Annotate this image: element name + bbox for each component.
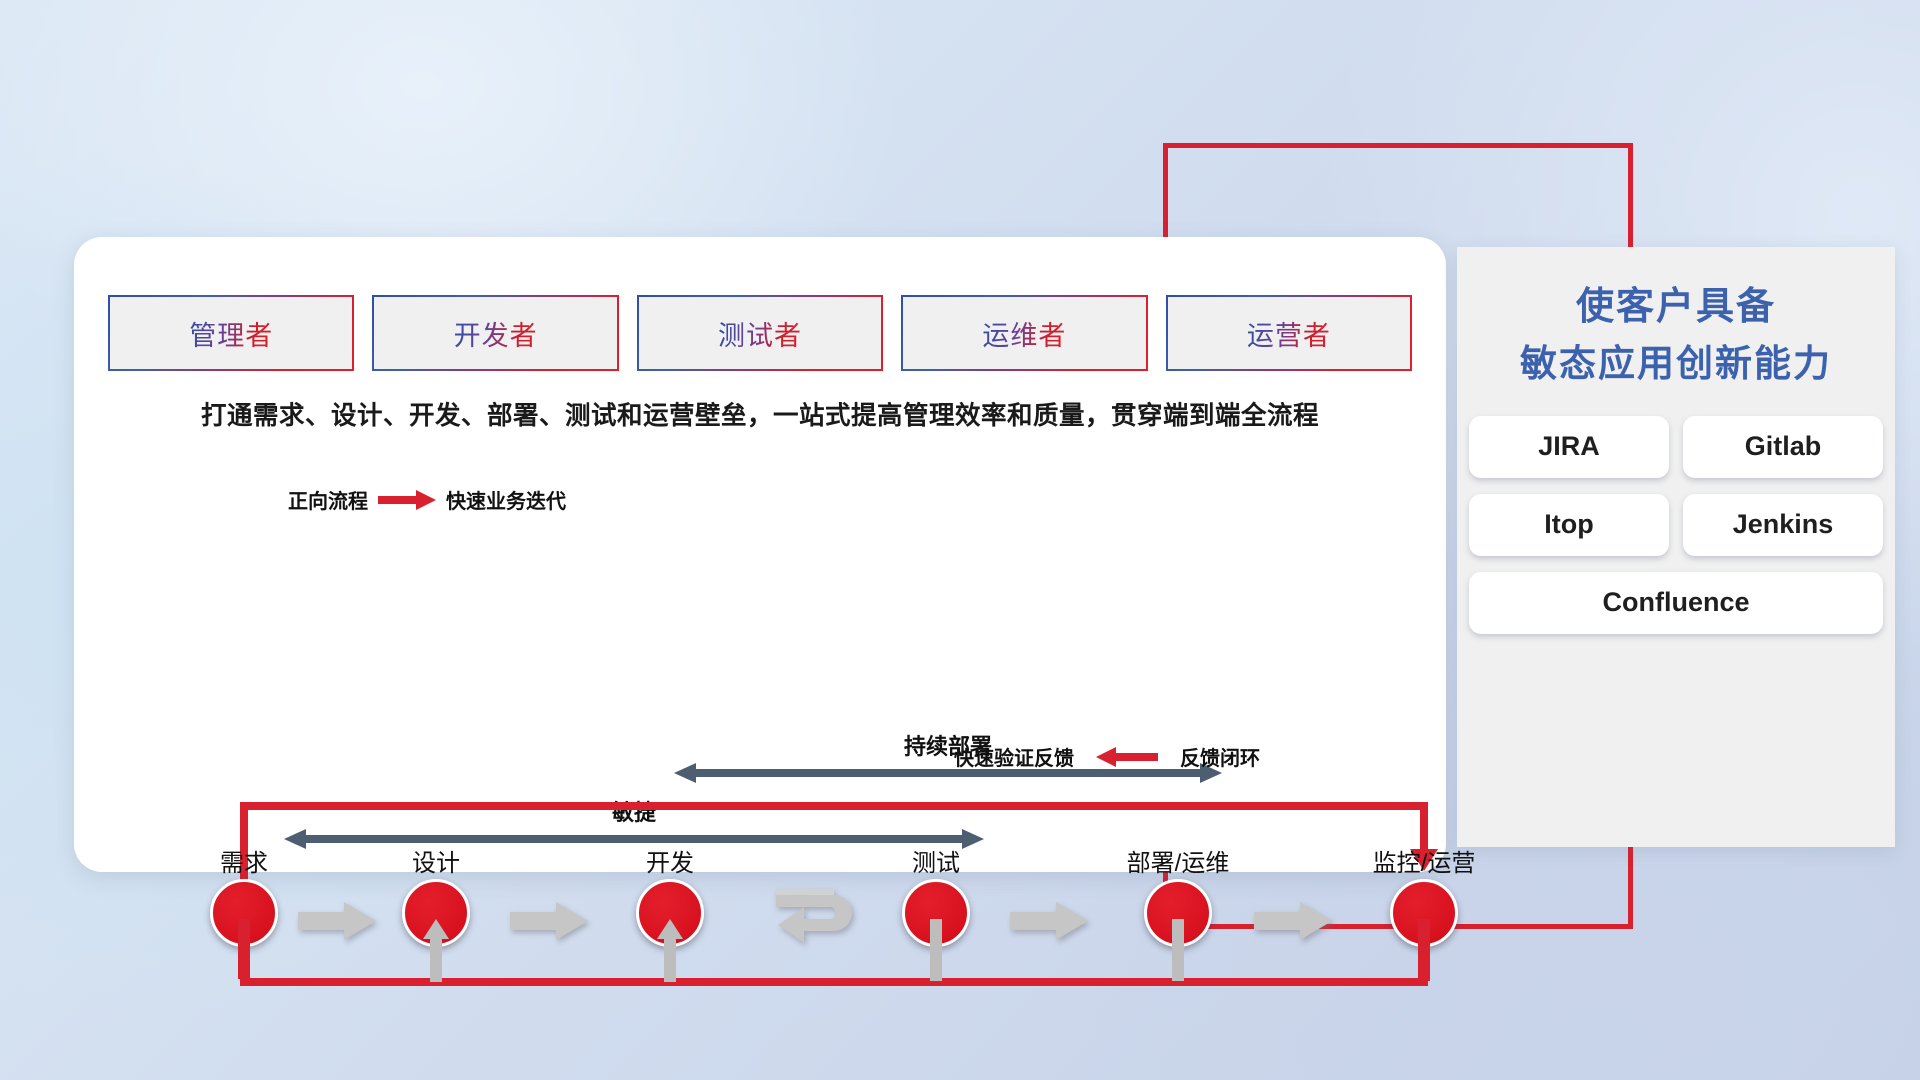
arrow-head (344, 902, 376, 940)
capability-panel: 使客户具备 敏态应用创新能力 JIRA Gitlab Itop Jenkins … (1457, 247, 1895, 847)
stem-deploy-ops (1172, 919, 1184, 981)
arrow-shaft (1254, 912, 1302, 930)
stage-label: 部署/运维 (1118, 851, 1238, 877)
tool-chip-gitlab[interactable]: Gitlab (1683, 416, 1883, 478)
arrow-shaft (1010, 912, 1058, 930)
loop-rail-bottom (240, 978, 1428, 986)
flow-arrow-4-icon (1254, 902, 1332, 940)
stage-label: 监控/运营 (1364, 851, 1484, 877)
flow-arrow-3-icon (1010, 902, 1088, 940)
arrow-shaft (298, 912, 346, 930)
stem-design (430, 937, 442, 982)
arrow-head (1300, 902, 1332, 940)
tool-chip-jenkins[interactable]: Jenkins (1683, 494, 1883, 556)
stem-monitor-operations (1418, 919, 1430, 981)
stage-label: 测试 (876, 851, 996, 877)
tool-chip-label: JIRA (1538, 431, 1600, 462)
pipeline: 需求 设计 开发 测试 部署/运维 监控/运营 (74, 237, 1446, 872)
panel-title-line1: 使客户具备 (1457, 279, 1895, 336)
stage-label: 需求 (184, 851, 304, 877)
tool-chip-list: JIRA Gitlab Itop Jenkins Confluence (1469, 416, 1883, 634)
legend-feedback-right-label: 反馈闭环 (1180, 742, 1260, 771)
arrow-head (556, 902, 588, 940)
tool-chip-itop[interactable]: Itop (1469, 494, 1669, 556)
arrow-shaft (510, 912, 558, 930)
stem-development (664, 937, 676, 982)
stem-requirement (238, 919, 250, 979)
stage-label: 开发 (610, 851, 730, 877)
arrow-head (1056, 902, 1088, 940)
tool-chip-jira[interactable]: JIRA (1469, 416, 1669, 478)
tool-chip-label: Gitlab (1745, 431, 1822, 462)
panel-title-line2: 敏态应用创新能力 (1457, 336, 1895, 392)
stem-head-design-icon (423, 919, 449, 939)
legend-feedback-loop: 快速验证反馈 反馈闭环 (954, 742, 1260, 771)
legend-feedback-left-label: 快速验证反馈 (954, 742, 1074, 771)
arrow-left-red-icon (1096, 747, 1158, 767)
flow-arrow-1-icon (298, 902, 376, 940)
stage-label: 设计 (376, 851, 496, 877)
panel-title: 使客户具备 敏态应用创新能力 (1457, 247, 1895, 392)
tool-chip-label: Jenkins (1733, 509, 1834, 540)
loop-back-uturn-icon (774, 887, 878, 955)
stem-testing (930, 919, 942, 981)
stem-head-development-icon (657, 919, 683, 939)
main-diagram-card: 管理者 开发者 测试者 运维者 运营者 打通需求、设计、开发、部署、测试和运营壁… (74, 237, 1446, 872)
tool-chip-label: Confluence (1602, 587, 1749, 618)
tool-chip-label: Itop (1544, 509, 1593, 540)
flow-arrow-2-icon (510, 902, 588, 940)
tool-chip-confluence[interactable]: Confluence (1469, 572, 1883, 634)
